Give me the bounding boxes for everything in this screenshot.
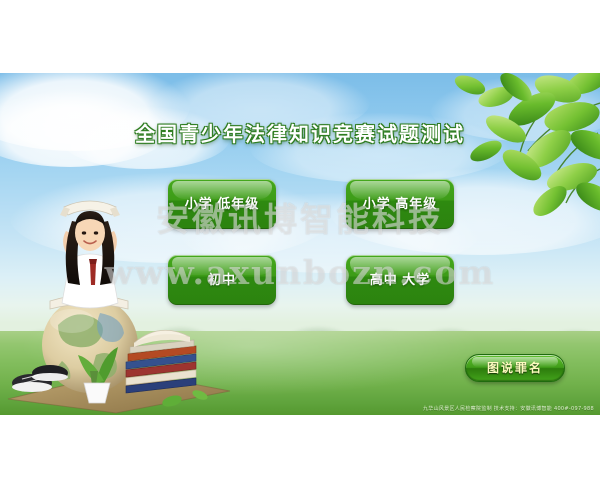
screenshot-canvas: 全国青少年法律知识竞赛试题测试 小学 低年级 小学 高年级 初中 高中 大学	[0, 0, 600, 488]
grade-button-label: 初中	[168, 255, 276, 305]
grade-button-label: 小学 低年级	[168, 179, 276, 229]
grade-row-bottom: 初中 高中 大学	[168, 255, 460, 305]
grade-selection-group: 小学 低年级 小学 高年级 初中 高中 大学	[168, 179, 460, 331]
grade-button-senior-high[interactable]: 高中 大学	[346, 255, 454, 305]
grade-button-primary-lower[interactable]: 小学 低年级	[168, 179, 276, 229]
grade-button-junior-high[interactable]: 初中	[168, 255, 276, 305]
page-title: 全国青少年法律知识竞赛试题测试	[0, 118, 600, 147]
application-window: 全国青少年法律知识竞赛试题测试 小学 低年级 小学 高年级 初中 高中 大学	[0, 73, 600, 415]
grade-button-label: 小学 高年级	[346, 179, 454, 229]
grade-button-label: 高中 大学	[346, 255, 454, 305]
grade-row-top: 小学 低年级 小学 高年级	[168, 179, 460, 229]
footer-credit: 九华山风景区人民检察院监制 技术支持：安徽讯博智能 400#-097-988	[423, 405, 594, 412]
illustrated-crimes-label: 图说罪名	[466, 355, 564, 381]
grade-button-primary-upper[interactable]: 小学 高年级	[346, 179, 454, 229]
illustrated-crimes-button[interactable]: 图说罪名	[465, 354, 565, 382]
